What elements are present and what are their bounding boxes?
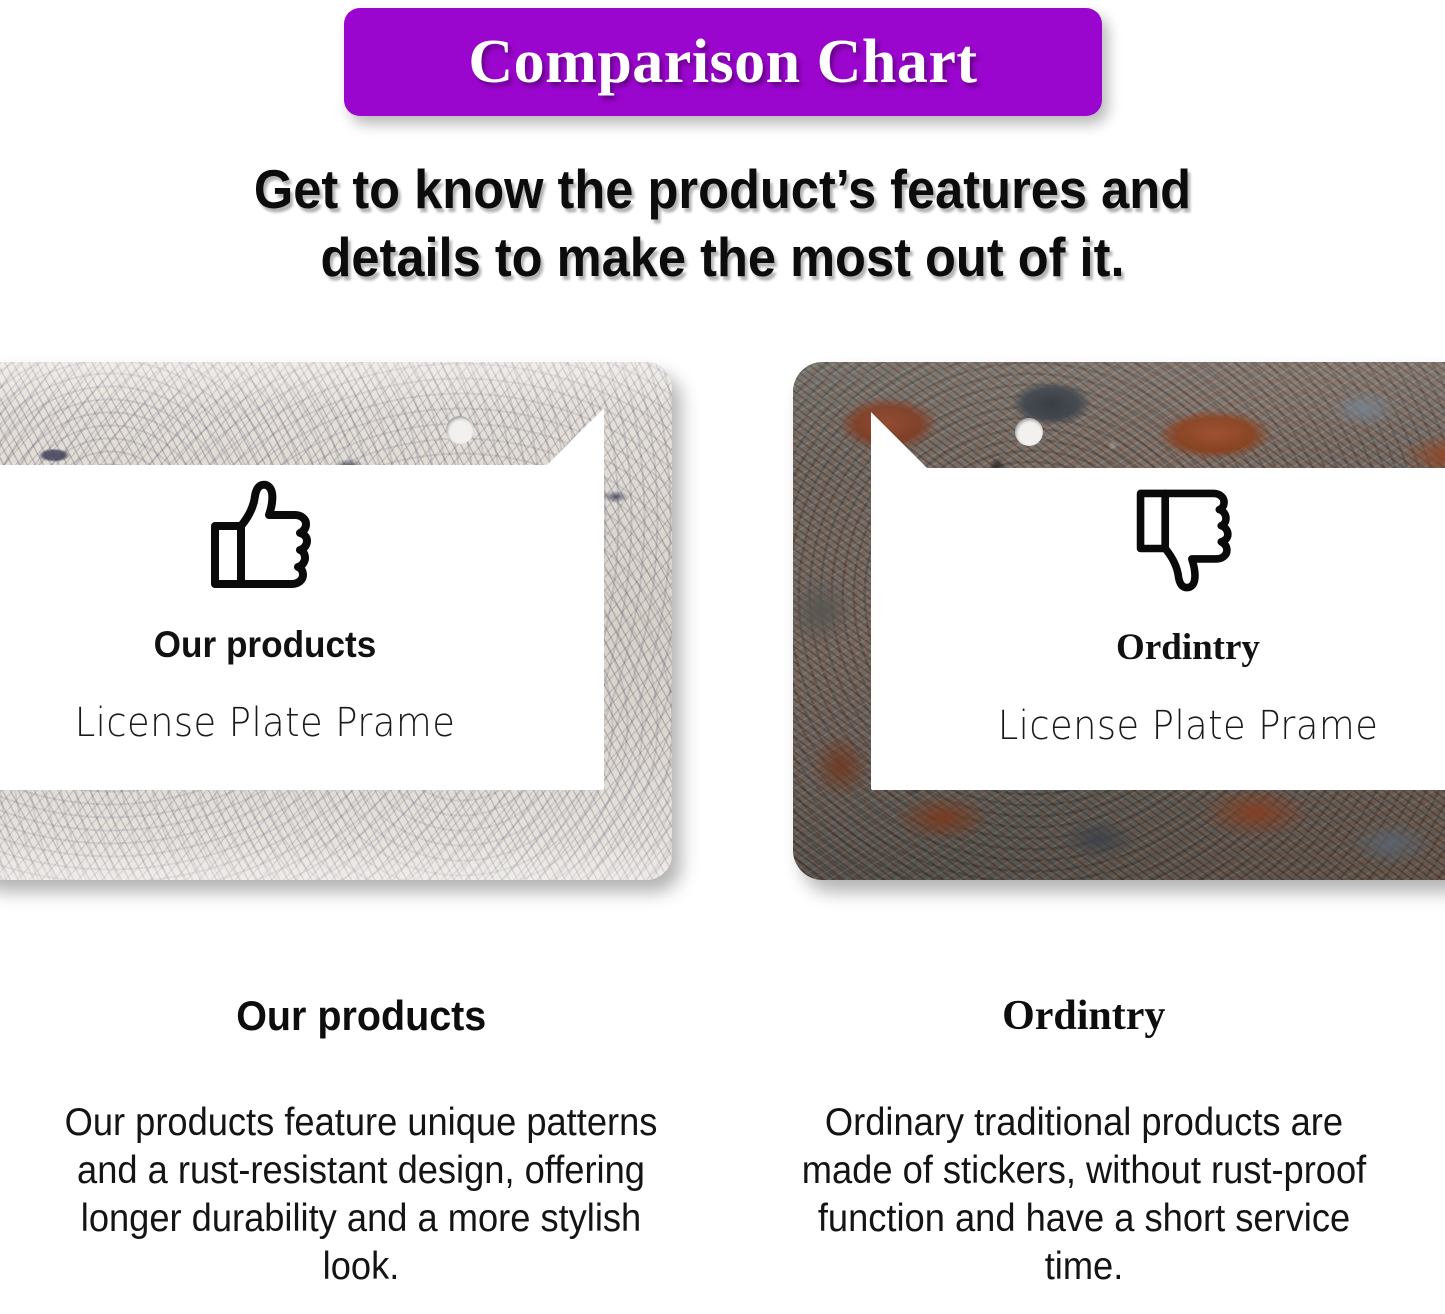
thumbs-up-icon [206, 480, 324, 592]
subtitle-line-2: details to make the most out of it. [58, 223, 1387, 291]
subtitle-line-1: Get to know the product’s features and [58, 155, 1387, 223]
comparison-description-row: Our products Our products feature unique… [0, 995, 1445, 1314]
thumbs-down-icon [1132, 483, 1244, 595]
ordinary-product-brand-label: Ordintry [893, 629, 1445, 666]
our-product-frame-image: Our products License Plate Prame [0, 350, 682, 920]
ordinary-product-column-heading: Ordintry [757, 995, 1412, 1037]
ordinary-product-column-body: Ordinary traditional products are made o… [786, 1099, 1381, 1291]
ordinary-product-caption: Ordintry License Plate Prame [893, 483, 1445, 746]
our-product-column-heading: Our products [54, 995, 669, 1037]
ordinary-product-description-column: Ordintry Ordinary traditional products a… [723, 995, 1445, 1314]
our-product-description-column: Our products Our products feature unique… [0, 995, 723, 1314]
page-subtitle: Get to know the product’s features and d… [58, 155, 1387, 291]
mounting-hole-ours [446, 416, 474, 444]
ordinary-product-name-label: License Plate Prame [917, 706, 1445, 746]
ordinary-product-frame-image: Ordintry License Plate Prame [793, 350, 1445, 920]
our-product-name-label: License Plate Prame [0, 703, 536, 743]
comparison-chart-banner: Comparison Chart [344, 8, 1102, 116]
our-product-brand-label: Our products [0, 626, 545, 663]
product-comparison-images: Our products License Plate Prame Ordintr… [0, 350, 1445, 925]
page-title: Comparison Chart [468, 27, 977, 98]
our-product-column-body: Our products feature unique patterns and… [64, 1099, 659, 1291]
our-product-caption: Our products License Plate Prame [0, 480, 560, 743]
mounting-hole-ordinary [1015, 418, 1043, 446]
